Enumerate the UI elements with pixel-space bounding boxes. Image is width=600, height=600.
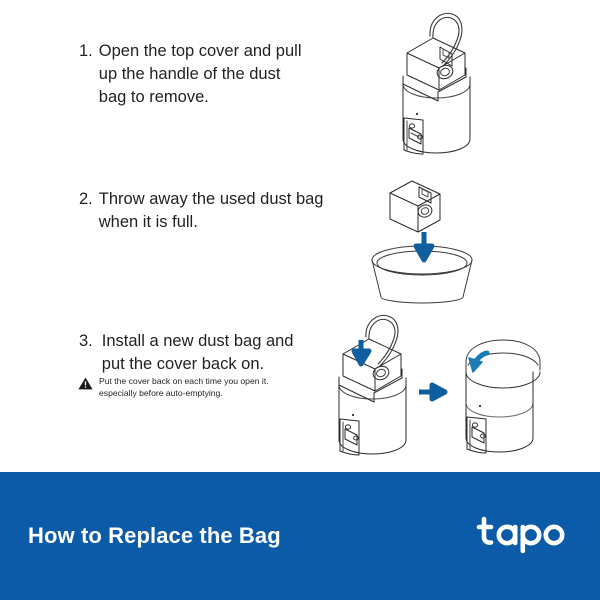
step-2-text: Throw away the used dust bag when it is … (99, 188, 324, 234)
step-2: 2. Throw away the used dust bag when it … (79, 188, 354, 234)
right-arrow-icon (419, 385, 445, 399)
warning-note-text: Put the cover back on each time you open… (99, 376, 269, 399)
step-3: 3. Install a new dust bag and put the co… (79, 330, 329, 376)
step-1-number: 1. (79, 40, 93, 63)
step-1-text: Open the top cover and pull up the handl… (99, 40, 302, 108)
footer-band: How to Replace the Bag (0, 472, 600, 600)
close-lid-curved-arrow-icon (469, 353, 487, 372)
base-station-closed-cover-illustration (466, 340, 540, 453)
footer-title: How to Replace the Bag (28, 523, 281, 549)
tapo-logo (476, 514, 572, 559)
instruction-page: 1. Open the top cover and pull up the ha… (0, 0, 600, 600)
step-2-number: 2. (79, 188, 93, 211)
step-1: 1. Open the top cover and pull up the ha… (79, 40, 329, 108)
warning-triangle-icon (78, 377, 93, 395)
step-3-text: Install a new dust bag and put the cover… (102, 330, 294, 376)
warning-note: Put the cover back on each time you open… (78, 376, 328, 399)
insert-dust-bag-illustration (339, 315, 406, 455)
down-arrow-icon (416, 232, 432, 260)
step-3-number: 3. (79, 330, 93, 353)
base-station-open-cover-illustration (403, 13, 470, 154)
press-down-arrow-icon (354, 340, 369, 364)
dust-bag-into-trash-illustration (372, 181, 472, 303)
